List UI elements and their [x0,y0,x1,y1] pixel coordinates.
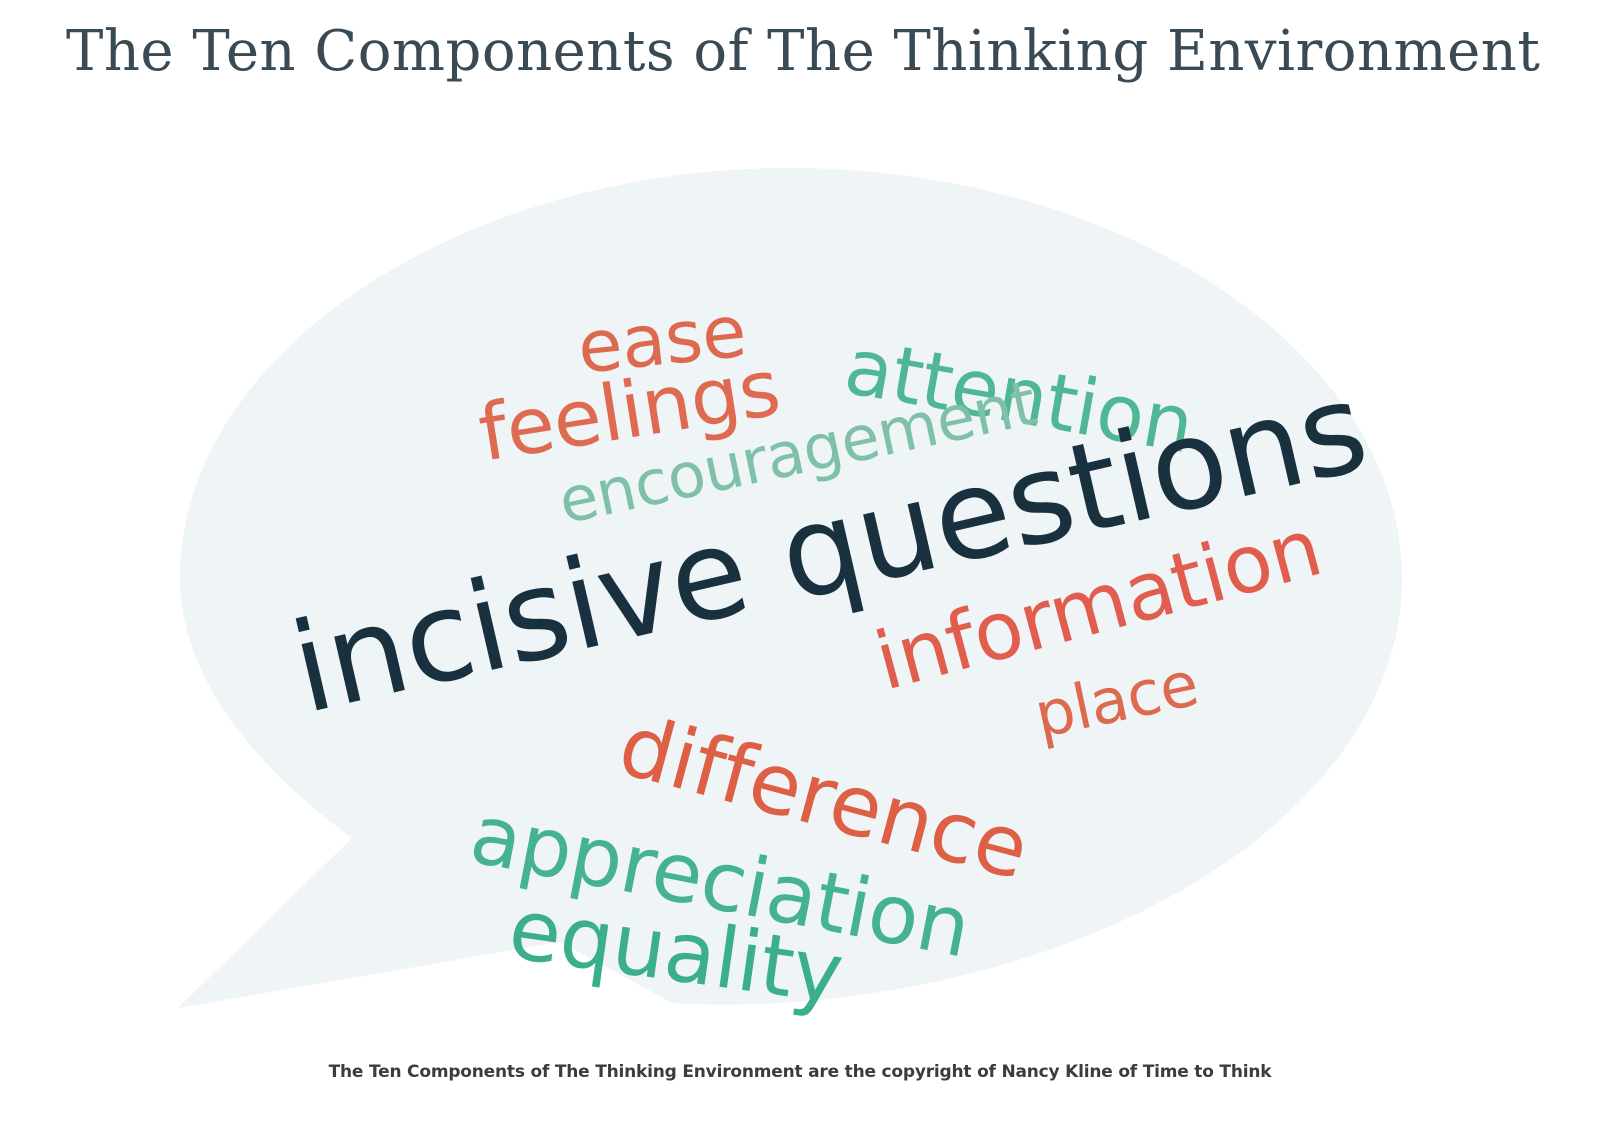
word-place: place [1030,653,1204,748]
word-cloud: ease attention feelings encouragement in… [0,0,1600,1132]
copyright-footer: The Ten Components of The Thinking Envir… [0,1062,1600,1082]
slide-canvas: The Ten Components of The Thinking Envir… [0,0,1600,1132]
